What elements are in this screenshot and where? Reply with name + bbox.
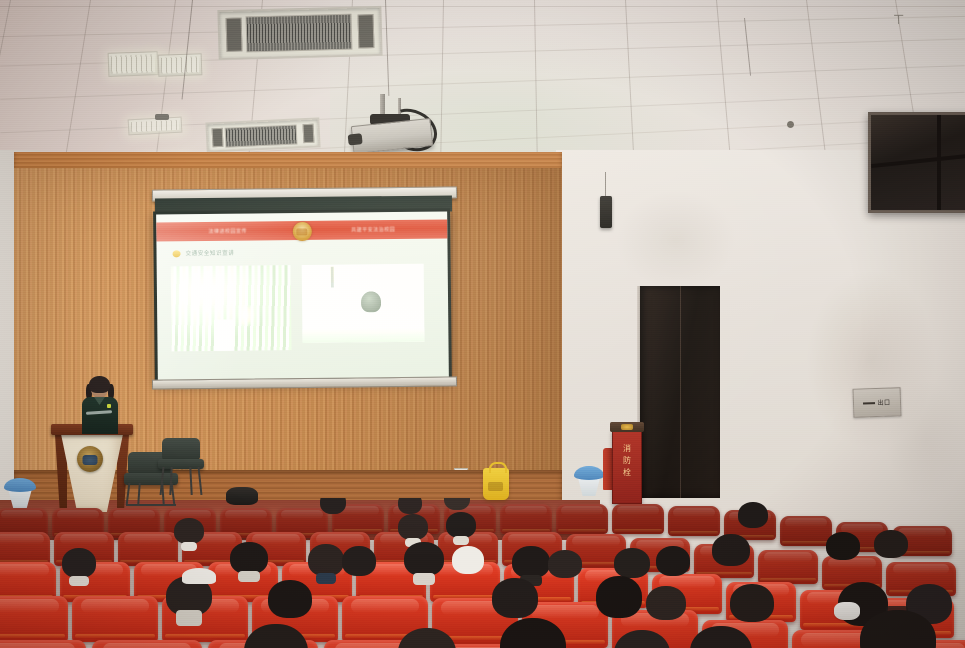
yellow-bag bbox=[483, 468, 509, 500]
smoke-detector bbox=[155, 114, 169, 120]
seat[interactable] bbox=[556, 504, 608, 534]
presenter bbox=[80, 378, 120, 434]
blue-stool-right bbox=[574, 466, 604, 496]
attendee bbox=[690, 626, 752, 648]
seat[interactable] bbox=[92, 640, 202, 648]
seat[interactable] bbox=[612, 504, 664, 534]
light-panel-a bbox=[108, 51, 159, 77]
attendee bbox=[656, 546, 690, 576]
attendee bbox=[398, 628, 456, 648]
attendee bbox=[500, 618, 566, 648]
seat[interactable] bbox=[0, 532, 50, 566]
lectern-emblem-icon bbox=[77, 446, 103, 472]
ceiling-sprinkler-icon bbox=[787, 121, 794, 128]
attendee bbox=[512, 546, 550, 578]
audience-seating bbox=[0, 498, 965, 648]
fire-stand-char-2: 防 bbox=[623, 457, 631, 465]
attendee bbox=[244, 624, 308, 648]
ceiling-hook-icon: ⊤ bbox=[893, 12, 904, 28]
ac-diffuser-large bbox=[217, 6, 382, 60]
side-door[interactable] bbox=[640, 286, 720, 498]
dark-window bbox=[868, 112, 965, 213]
seat[interactable] bbox=[780, 516, 832, 546]
wall-sign-text: 出口 bbox=[877, 398, 890, 407]
slide-bullet-text: 交通安全知识宣讲 bbox=[186, 249, 235, 258]
seat[interactable] bbox=[500, 504, 552, 534]
wall-sign: 出口 bbox=[853, 387, 902, 418]
projection-screen: 法律进校园宣传 共建平安法治校园 交通安全知识宣讲 bbox=[153, 208, 452, 383]
attendee bbox=[342, 546, 376, 576]
sign-arrow-icon bbox=[863, 402, 875, 404]
attendee bbox=[548, 550, 582, 578]
slide-photo-right bbox=[302, 264, 425, 343]
attendee bbox=[404, 542, 444, 576]
attendee bbox=[826, 532, 860, 560]
attendee bbox=[874, 530, 908, 558]
slide-photo-left bbox=[171, 265, 292, 351]
attendee bbox=[614, 630, 670, 648]
attendee bbox=[596, 576, 642, 618]
attendee bbox=[738, 502, 768, 528]
ac-diffuser-small bbox=[205, 117, 320, 152]
auditorium-photo: ⊤ 法律进校园宣传 bbox=[0, 0, 965, 648]
attendee bbox=[308, 544, 344, 576]
slide-banner-left-text: 法律进校园宣传 bbox=[208, 228, 247, 235]
attendee bbox=[268, 580, 312, 618]
bullet-dot-icon bbox=[173, 250, 181, 257]
attendee bbox=[614, 548, 650, 578]
attendee bbox=[444, 498, 470, 510]
white-cap bbox=[182, 568, 216, 584]
fire-stand-char-1: 消 bbox=[623, 445, 631, 453]
seat[interactable] bbox=[0, 640, 86, 648]
fire-equipment-stand: 消 防 栓 bbox=[612, 430, 642, 504]
attendee bbox=[712, 534, 750, 566]
seat[interactable] bbox=[72, 596, 158, 642]
slide-bullet-line: 交通安全知识宣讲 bbox=[173, 249, 235, 258]
seat[interactable] bbox=[0, 596, 68, 642]
attendee bbox=[646, 586, 686, 620]
light-panel-b bbox=[158, 53, 203, 77]
attendee bbox=[398, 498, 422, 514]
seat[interactable] bbox=[668, 506, 720, 536]
slide-banner-right-text: 共建平安法治校园 bbox=[351, 226, 395, 233]
attendee bbox=[860, 610, 936, 648]
speaker-wire bbox=[605, 172, 606, 198]
seat[interactable] bbox=[758, 550, 818, 584]
fire-stand-char-3: 栓 bbox=[623, 469, 631, 477]
attendee-face-mask bbox=[834, 602, 860, 620]
wall-pa-speaker bbox=[600, 196, 612, 228]
folding-chair-2 bbox=[158, 438, 210, 496]
attendee bbox=[398, 514, 428, 540]
attendee bbox=[174, 518, 204, 544]
attendee bbox=[446, 512, 476, 538]
attendee bbox=[492, 578, 538, 618]
attendee bbox=[62, 548, 96, 578]
attendee bbox=[320, 498, 346, 514]
national-emblem-badge-icon bbox=[292, 222, 311, 241]
attendee bbox=[730, 584, 774, 622]
seat[interactable] bbox=[118, 532, 178, 566]
slide-surface: 法律进校园宣传 共建平安法治校园 交通安全知识宣讲 bbox=[156, 211, 449, 380]
attendee bbox=[452, 546, 484, 574]
attendee bbox=[230, 542, 268, 574]
